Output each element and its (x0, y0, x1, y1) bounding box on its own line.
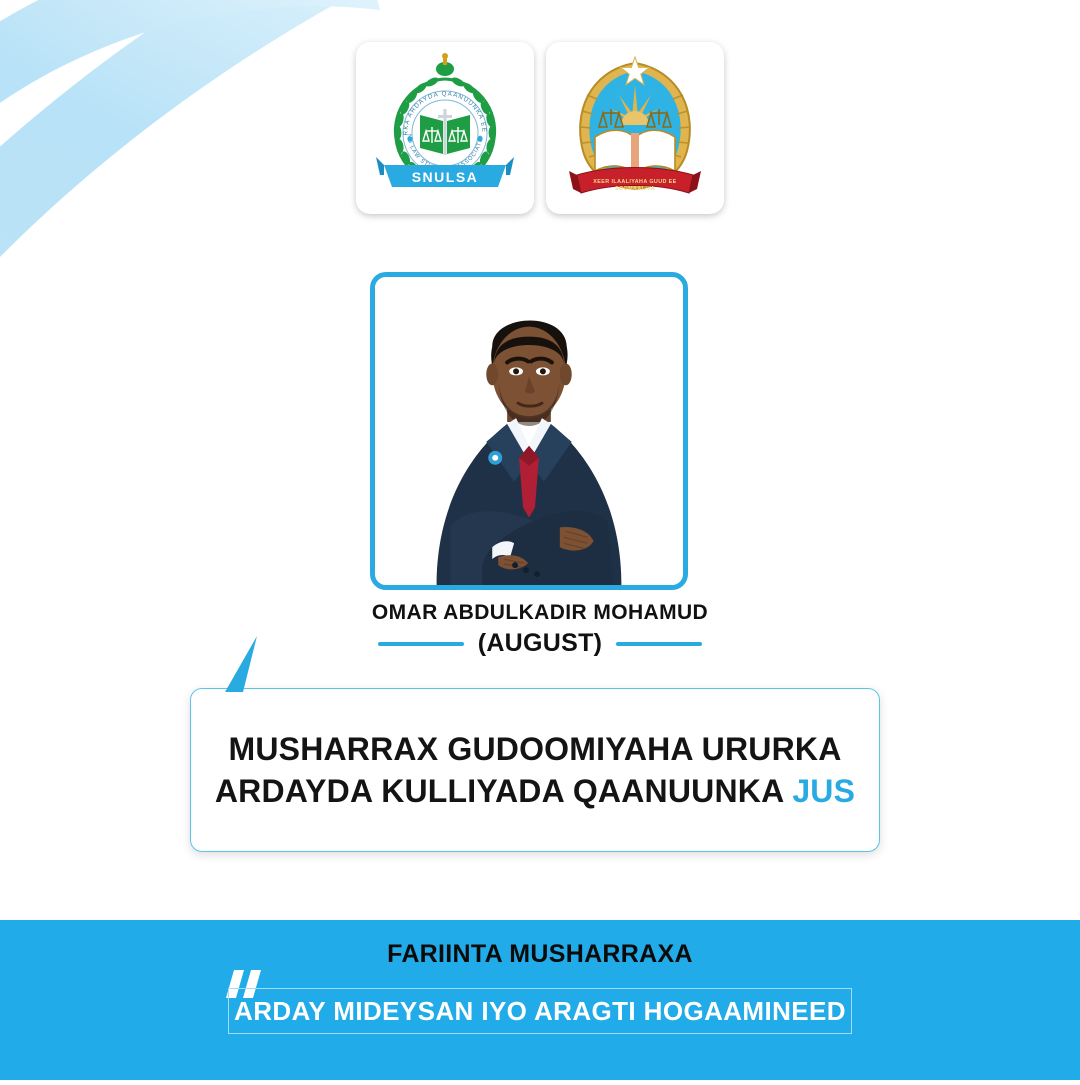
svg-text:SOOMAALIYA: SOOMAALIYA (615, 186, 655, 192)
candidate-alias-row: (AUGUST) (0, 629, 1080, 658)
alias-rule-left (378, 642, 464, 646)
message-text: MUSHARRAX GUDOOMIYAHA URURKA ARDAYDA KUL… (193, 728, 877, 812)
candidate-name: OMAR ABDULKADIR MOHAMUD (0, 600, 1080, 626)
message-line-1: MUSHARRAX GUDOOMIYAHA URURKA (228, 731, 841, 767)
judiciary-emblem-card: XEER ILAALIYAHA GUUD EE SOOMAALIYA (546, 42, 724, 214)
message-line-2: ARDAYDA KULLIYADA QAANUUNKA (215, 773, 792, 809)
candidate-alias: (AUGUST) (478, 629, 603, 658)
candidate-portrait (375, 277, 683, 585)
snulsa-logo-card: URURKA ARDAYDA QAANUUNKA EE SNU SNU LAW … (356, 42, 534, 214)
slogan-box: ARDAY MIDEYSAN IYO ARAGTI HOGAAMINEED (228, 988, 852, 1034)
banner-title: FARIINTA MUSHARRAXA (0, 940, 1080, 969)
logo-row: URURKA ARDAYDA QAANUUNKA EE SNU SNU LAW … (0, 42, 1080, 214)
svg-text:XEER ILAALIYAHA GUUD EE: XEER ILAALIYAHA GUUD EE (593, 179, 676, 185)
svg-text:SNULSA: SNULSA (412, 169, 479, 185)
alias-rule-right (616, 642, 702, 646)
message-accent: JUS (792, 773, 855, 809)
somali-judiciary-emblem: XEER ILAALIYAHA GUUD EE SOOMAALIYA (565, 55, 705, 201)
snulsa-logo: URURKA ARDAYDA QAANUUNKA EE SNU SNU LAW … (370, 53, 520, 203)
candidate-photo-frame (370, 272, 688, 590)
candidate-name-block: OMAR ABDULKADIR MOHAMUD (AUGUST) (0, 600, 1080, 658)
slogan-text: ARDAY MIDEYSAN IYO ARAGTI HOGAAMINEED (234, 996, 846, 1027)
message-box: MUSHARRAX GUDOOMIYAHA URURKA ARDAYDA KUL… (190, 688, 880, 852)
